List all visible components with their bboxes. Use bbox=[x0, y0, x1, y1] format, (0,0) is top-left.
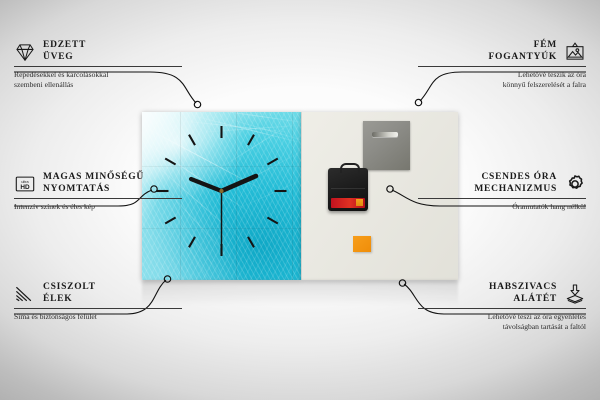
callout-title: MAGAS MINŐSÉGŰ NYOMTATÁS bbox=[43, 172, 144, 195]
hanger-slot bbox=[372, 132, 398, 137]
callout-polished-edges[interactable]: CSISZOLT ÉLEK Sima és biztonságos felüle… bbox=[14, 282, 182, 322]
callout-head: ultra HD MAGAS MINŐSÉGŰ NYOMTATÁS bbox=[14, 172, 182, 195]
callout-tempered-glass[interactable]: EDZETT ÜVEG Repedésekkel és karcolásokka… bbox=[14, 40, 182, 89]
callout-title: EDZETT ÜVEG bbox=[43, 40, 86, 63]
minute-hand bbox=[191, 179, 222, 191]
callout-head: FÉM FOGANTYÚK bbox=[418, 40, 586, 63]
callout-title: FÉM FOGANTYÚK bbox=[489, 40, 558, 63]
infographic-canvas: EDZETT ÜVEG Repedésekkel és karcolásokka… bbox=[0, 0, 600, 400]
picture-frame-icon bbox=[564, 41, 586, 63]
callout-subtitle: Óramutatók hang nélkül bbox=[418, 202, 586, 212]
hand-hub bbox=[219, 189, 223, 193]
callout-title: CSISZOLT ÉLEK bbox=[43, 282, 96, 305]
quartz-movement bbox=[328, 168, 368, 211]
press-layers-icon bbox=[564, 283, 586, 305]
foam-spacer-pad bbox=[353, 236, 371, 252]
movement-hook bbox=[340, 163, 360, 173]
ultra-hd-icon: ultra HD bbox=[14, 173, 36, 195]
callout-high-quality-print[interactable]: ultra HD MAGAS MINŐSÉGŰ NYOMTATÁS Intenz… bbox=[14, 172, 182, 212]
callout-head: CSISZOLT ÉLEK bbox=[14, 282, 182, 305]
callout-rule bbox=[14, 308, 182, 309]
polished-edges-icon bbox=[14, 283, 36, 305]
callout-rule bbox=[418, 66, 586, 67]
callout-rule bbox=[418, 308, 586, 309]
callout-foam-pad[interactable]: HABSZIVACS ALÁTÉT Lehetővé teszi az óra … bbox=[418, 282, 586, 331]
hour-hand bbox=[222, 176, 257, 191]
callout-subtitle: Repedésekkel és karcolásokkal szembeni e… bbox=[14, 70, 182, 89]
product-reflection bbox=[142, 280, 458, 314]
callout-head: CSENDES ÓRA MECHANIZMUS bbox=[418, 172, 586, 195]
diamond-icon bbox=[14, 41, 36, 63]
svg-text:HD: HD bbox=[20, 183, 30, 190]
wire-endpoint-tempered-glass bbox=[194, 101, 200, 107]
callout-subtitle: Sima és biztonságos felület bbox=[14, 312, 182, 322]
callout-subtitle: Intenzív színek és éles kép bbox=[14, 202, 182, 212]
gear-icon bbox=[564, 173, 586, 195]
callout-title: HABSZIVACS ALÁTÉT bbox=[489, 282, 557, 305]
callout-head: HABSZIVACS ALÁTÉT bbox=[418, 282, 586, 305]
movement-seam bbox=[331, 188, 365, 189]
callout-silent-clock-mechanism[interactable]: CSENDES ÓRA MECHANIZMUS Óramutatók hang … bbox=[418, 172, 586, 212]
callout-rule bbox=[418, 198, 586, 199]
callout-subtitle: Lehetővé teszik az óra könnyű felszerelé… bbox=[418, 70, 586, 89]
wire-endpoint-metal-handles bbox=[415, 99, 421, 105]
callout-rule bbox=[14, 198, 182, 199]
product-composite bbox=[142, 112, 458, 282]
battery bbox=[331, 198, 365, 208]
callout-rule bbox=[14, 66, 182, 67]
callout-title: CSENDES ÓRA MECHANIZMUS bbox=[474, 172, 557, 195]
callout-subtitle: Lehetővé teszi az óra egyenletes távolsá… bbox=[418, 312, 586, 331]
callout-head: EDZETT ÜVEG bbox=[14, 40, 182, 63]
callout-metal-handles[interactable]: FÉM FOGANTYÚK Lehetővé teszik az óra kön… bbox=[418, 40, 586, 89]
battery-terminal bbox=[356, 199, 363, 206]
metal-hanger-plate bbox=[363, 121, 410, 170]
